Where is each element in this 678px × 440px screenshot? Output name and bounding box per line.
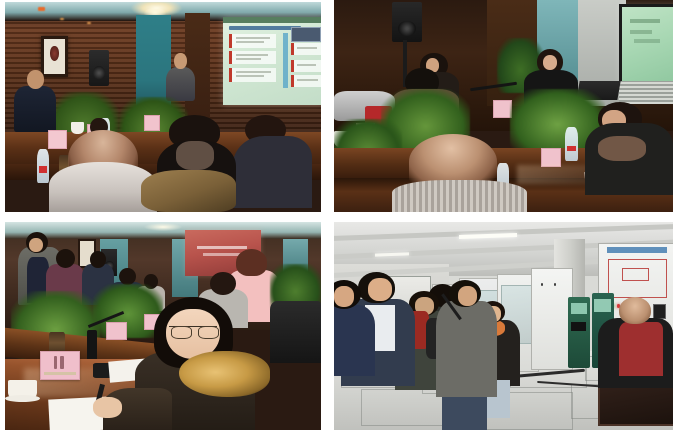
photo-collage	[0, 0, 678, 440]
photo-bottom-left-scene	[5, 222, 321, 430]
name-placard	[144, 115, 160, 131]
slide-text-block	[229, 34, 276, 47]
name-placard	[106, 322, 127, 341]
name-placard	[48, 130, 67, 149]
slide-text-block	[229, 68, 276, 82]
photo-top-right[interactable]	[334, 0, 673, 212]
visitor-face	[334, 286, 354, 307]
attendee-body	[233, 136, 312, 207]
photo-bottom-left[interactable]	[5, 222, 321, 430]
tea-cup-and-saucer	[8, 380, 36, 401]
wall-indicator-light	[38, 7, 45, 10]
projection-screen	[619, 4, 673, 86]
placard-holder	[44, 372, 76, 375]
slide-text-block	[291, 75, 321, 87]
photo-top-left-scene	[5, 2, 321, 212]
wood-pillar	[185, 13, 210, 118]
slide-text-block	[291, 43, 321, 55]
wall-loudspeaker	[392, 2, 423, 42]
guide-red-sweater	[619, 322, 663, 376]
fur-trimmed-hood	[179, 351, 271, 397]
water-bottle	[565, 127, 579, 161]
eyeglasses-lens-icon	[171, 326, 192, 339]
name-placard	[40, 351, 80, 380]
photo-top-right-scene	[334, 0, 673, 212]
slide-text-line	[197, 246, 247, 249]
switchgear-cabinet	[531, 268, 574, 370]
tea-cup	[71, 122, 84, 135]
slide-text-line	[630, 19, 660, 23]
conference-chair	[270, 301, 321, 363]
slide-text-block	[291, 60, 321, 72]
slide-header-band	[223, 17, 321, 23]
guide-head	[619, 297, 651, 324]
cabinet-handle	[554, 283, 556, 286]
photo-bottom-right-scene	[334, 222, 673, 430]
slide-text-block	[229, 51, 276, 64]
framed-artwork	[41, 36, 68, 78]
attendee-in-suit	[14, 86, 55, 132]
eyeglasses-lens-icon	[198, 326, 219, 339]
standing-attendee-face	[29, 238, 43, 253]
slide-text-line	[634, 39, 660, 43]
visitor-face	[458, 286, 478, 306]
mimic-diagram-breaker	[622, 268, 649, 281]
shoulder-bag	[141, 170, 236, 212]
attendee-head	[90, 251, 106, 268]
panel-header-label	[607, 247, 667, 253]
wall-vent	[619, 81, 673, 104]
attendee-head	[210, 272, 235, 295]
placard-name-text	[54, 356, 58, 369]
attendee-scarf	[598, 136, 645, 161]
slide-accent-bar	[283, 33, 288, 88]
photo-bottom-right[interactable]	[334, 222, 673, 430]
girl-hand	[93, 397, 121, 418]
slide-text-line	[630, 30, 652, 34]
attendee-head	[56, 249, 75, 268]
photo-top-left[interactable]	[5, 2, 321, 212]
visitor-body	[334, 305, 375, 376]
visitor-face	[368, 278, 392, 301]
placard-name-text	[60, 356, 64, 369]
visitor-body	[436, 301, 497, 397]
water-bottle	[37, 149, 50, 183]
kiosk-card-slot	[571, 322, 586, 330]
kiosk-screen	[571, 303, 588, 314]
potted-plant	[93, 284, 163, 338]
kiosk-screen	[594, 299, 611, 312]
cabinet-handle	[541, 283, 543, 286]
wall-loudspeaker	[89, 50, 110, 86]
attendee-scarf	[176, 141, 214, 170]
slide-thumbnail	[291, 27, 321, 42]
projection-screen	[223, 17, 321, 105]
woman-in-pink-head	[236, 249, 268, 276]
self-service-kiosk	[568, 297, 590, 368]
presenter-face	[543, 55, 558, 70]
foreground-attendee-shirt	[392, 180, 528, 212]
